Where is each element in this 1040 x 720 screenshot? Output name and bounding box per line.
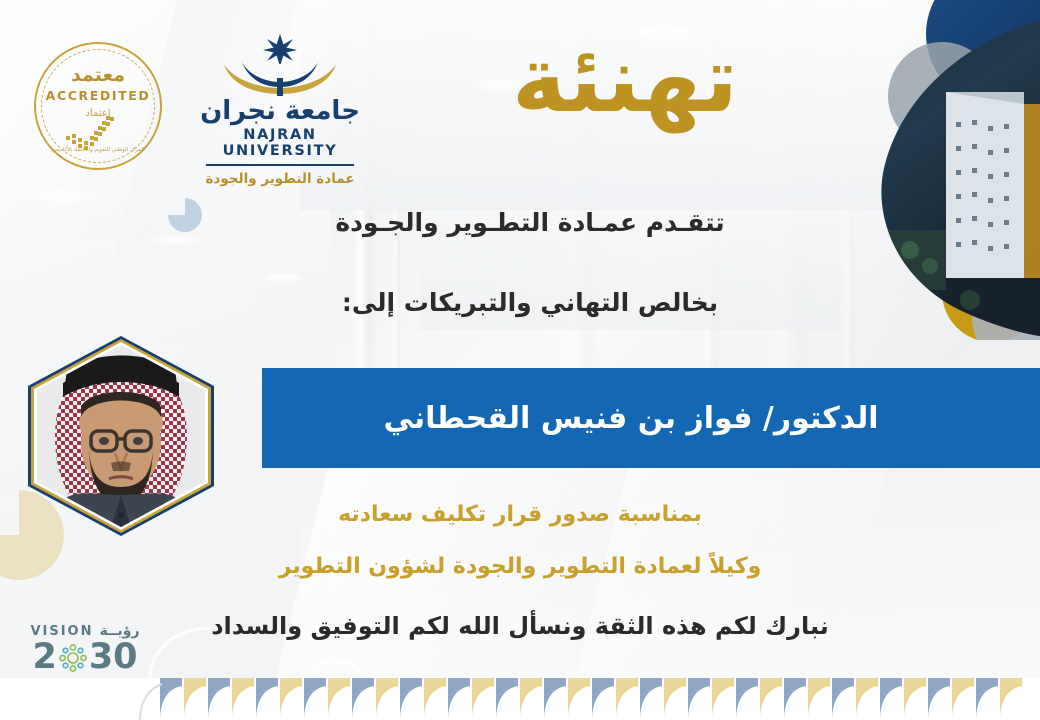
intro-line-1: تتقـدم عمـادة التطـوير والجـودة bbox=[180, 208, 880, 237]
najran-university-logo: جامعة نجران NAJRAN UNIVERSITY عمادة التط… bbox=[190, 34, 370, 187]
seal-authority-text: المركز الوطني للتقويم والاعتماد الأكاديم… bbox=[34, 147, 162, 154]
vision-number-right: 30 bbox=[89, 640, 138, 675]
calligraphy-title: تهنئة bbox=[500, 34, 750, 174]
message-gold-line-2: وكيلاً لعمادة التطوير والجودة لشؤون التط… bbox=[140, 554, 900, 579]
vision-emblem-icon bbox=[58, 643, 88, 673]
university-name-english: NAJRAN UNIVERSITY bbox=[190, 127, 370, 159]
congratulation-poster: معتمد ACCREDITED اعتماد المركز الوطني لل… bbox=[0, 0, 1040, 720]
calligraphy-title-text: تهنئة bbox=[500, 34, 750, 126]
message-closing-line: نبارك لكم هذه الثقة ونسأل الله لكم التوف… bbox=[140, 612, 900, 640]
seal-arabic-label: معتمد bbox=[34, 64, 162, 86]
intro-line-2: بخالص التهاني والتبريكات إلى: bbox=[180, 288, 880, 317]
honoree-name: الدكتور/ فواز بن فنيس القحطاني bbox=[383, 401, 918, 436]
accreditation-seal: معتمد ACCREDITED اعتماد المركز الوطني لل… bbox=[34, 42, 162, 170]
deanship-label: عمادة التطوير والجودة bbox=[190, 171, 370, 187]
honoree-name-banner: الدكتور/ فواز بن فنيس القحطاني bbox=[262, 368, 1040, 468]
message-gold-line-1: بمناسبة صدور قرار تكليف سعادته bbox=[140, 502, 900, 527]
university-divider bbox=[206, 164, 354, 166]
vision-number: 2 30 bbox=[20, 640, 150, 675]
university-star-icon bbox=[190, 34, 370, 64]
vision-number-left: 2 bbox=[32, 640, 56, 675]
university-swoosh-icon bbox=[190, 62, 370, 96]
university-name-arabic: جامعة نجران bbox=[190, 98, 370, 124]
seal-english-label: ACCREDITED bbox=[34, 88, 162, 103]
